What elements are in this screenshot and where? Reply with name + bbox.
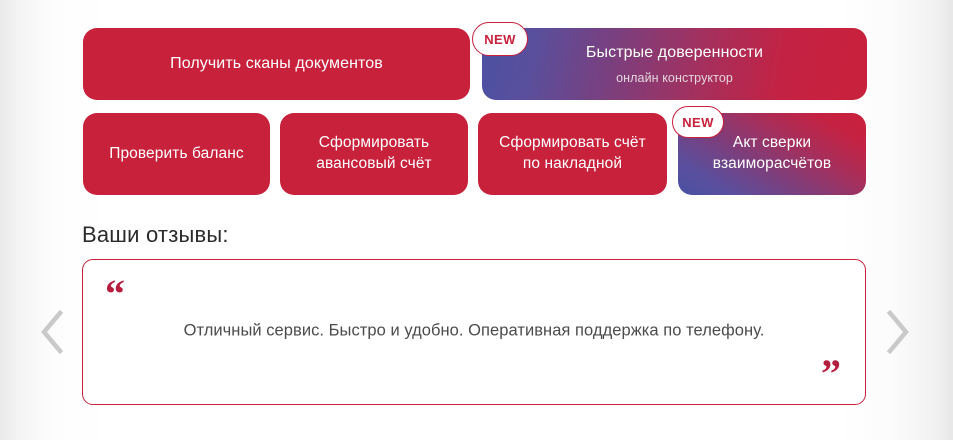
testimonial-card: “ Отличный сервис. Быстро и удобно. Опер… [82, 259, 866, 405]
action-button-label: Проверить баланс [109, 144, 244, 165]
new-badge-label: NEW [484, 32, 516, 47]
chevron-left-icon[interactable] [36, 305, 70, 359]
chevron-right-icon[interactable] [880, 305, 914, 359]
action-button-subtitle: онлайн конструктор [616, 70, 733, 86]
testimonial-text: Отличный сервис. Быстро и удобно. Операт… [141, 320, 807, 344]
action-button-create-advance-invoice[interactable]: Сформировать авансовый счёт [280, 113, 468, 195]
reviews-section-heading: Ваши отзывы: [82, 222, 229, 248]
new-badge-label: NEW [682, 115, 714, 130]
page-root: Получить сканы документов Быстрые довере… [0, 0, 953, 440]
action-button-fast-power-of-attorney[interactable]: Быстрые доверенности онлайн конструктор [482, 28, 867, 100]
quote-open-icon: “ [105, 274, 125, 314]
new-badge-fast-power-of-attorney: NEW [472, 22, 528, 56]
action-button-label: Сформировать счёт по накладной [499, 133, 646, 175]
quote-close-icon: ” [821, 354, 841, 394]
action-button-get-document-scans[interactable]: Получить сканы документов [83, 28, 470, 100]
action-button-label: Сформировать авансовый счёт [316, 133, 432, 175]
action-button-check-balance[interactable]: Проверить баланс [83, 113, 270, 195]
action-button-label: Акт сверки взаиморасчётов [713, 133, 831, 175]
action-button-create-invoice-from-waybill[interactable]: Сформировать счёт по накладной [478, 113, 667, 195]
action-button-label: Быстрые доверенности [586, 42, 763, 64]
action-button-label: Получить сканы документов [170, 53, 383, 75]
new-badge-reconciliation-act: NEW [672, 106, 724, 138]
